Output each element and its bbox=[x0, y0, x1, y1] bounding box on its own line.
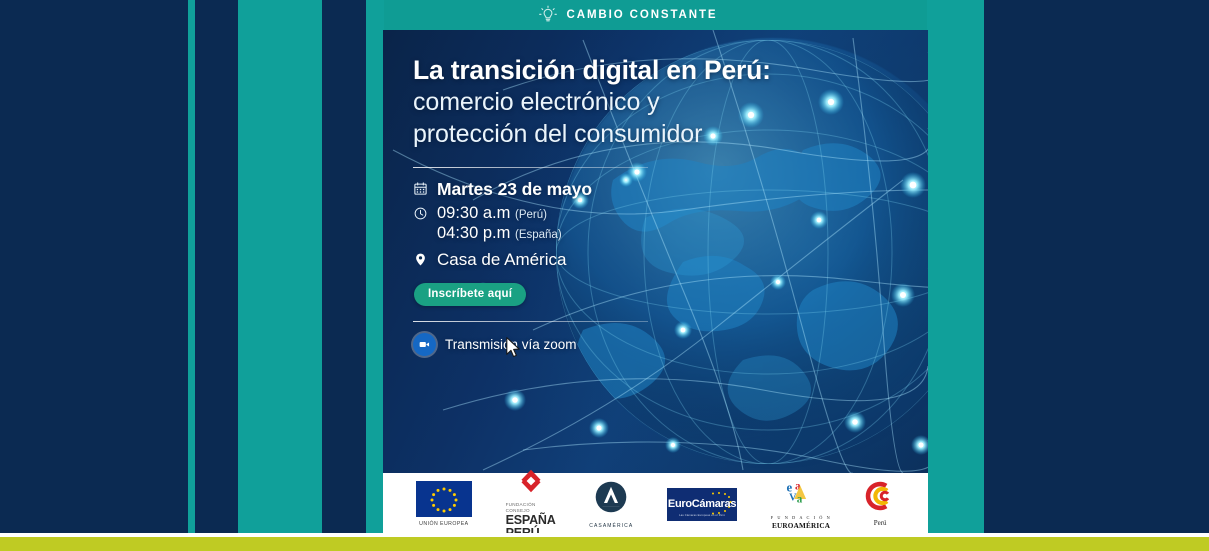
casa-america-mark-icon bbox=[594, 480, 628, 519]
page-title: La transición digital en Perú: bbox=[413, 56, 813, 86]
time-peru: 09:30 a.m (Perú) bbox=[437, 204, 562, 223]
logo-subtitle: Las Cámaras Europeas en el Perú bbox=[667, 514, 737, 517]
logo-caption: CASAMÉRICA bbox=[589, 523, 633, 529]
logo-union-europea: UNIÓN EUROPEA bbox=[416, 481, 472, 527]
logo-fundacion-euroamerica: e a a V F U N D A C I Ó N EUROAMÉRICA bbox=[771, 478, 832, 530]
venue-name: Casa de América bbox=[437, 250, 566, 270]
logo-caption: Perú bbox=[874, 519, 887, 527]
eurocamaras-flag-icon: EuroCámaras Las Cámaras Europeas en el P… bbox=[667, 488, 737, 521]
decor-stripe-2 bbox=[238, 0, 322, 551]
clock-icon bbox=[413, 206, 429, 223]
header-band: CAMBIO CONSTANTE bbox=[384, 0, 927, 30]
decor-stripe-3 bbox=[366, 0, 384, 551]
logo-caption-2: EUROAMÉRICA bbox=[772, 522, 830, 530]
calendar-icon bbox=[413, 181, 429, 198]
register-button[interactable]: Inscríbete aquí bbox=[414, 283, 526, 306]
event-poster: La transición digital en Perú: comercio … bbox=[383, 30, 928, 535]
svg-text:V: V bbox=[789, 493, 797, 504]
divider-bottom bbox=[413, 321, 648, 322]
logo-title: EuroCámaras bbox=[668, 498, 736, 510]
event-date: Martes 23 de mayo bbox=[437, 179, 592, 200]
subtitle-line-1: comercio electrónico y bbox=[413, 86, 813, 118]
time-spain-zone: (España) bbox=[515, 229, 562, 241]
time-row: 09:30 a.m (Perú) 04:30 p.m (España) bbox=[413, 204, 813, 243]
decor-stripe-1 bbox=[188, 0, 195, 551]
sponsor-logo-strip: UNIÓN EUROPEA FUNDACIÓN CONSEJO ESPAÑ bbox=[383, 473, 928, 535]
rhombus-mark-icon bbox=[518, 468, 544, 499]
bottom-accent-bar bbox=[0, 537, 1209, 551]
logo-peru: Perú bbox=[865, 481, 895, 527]
broadcast-row: Transmisión vía zoom bbox=[413, 333, 813, 356]
decor-stripe-4 bbox=[927, 0, 984, 551]
eu-flag-icon bbox=[416, 481, 472, 517]
date-row: Martes 23 de mayo bbox=[413, 179, 813, 200]
time-peru-zone: (Perú) bbox=[515, 209, 547, 221]
logo-eurocamaras: EuroCámaras Las Cámaras Europeas en el P… bbox=[667, 488, 737, 521]
logo-casa-america: CASAMÉRICA bbox=[589, 480, 633, 529]
venue-row: Casa de América bbox=[413, 250, 813, 270]
svg-text:a: a bbox=[797, 493, 803, 505]
brand-title: CAMBIO CONSTANTE bbox=[567, 9, 718, 21]
logo-caption: UNIÓN EUROPEA bbox=[419, 521, 468, 527]
logo-caption-1: F U N D A C I Ó N bbox=[771, 515, 832, 520]
video-camera-icon bbox=[413, 333, 436, 356]
map-pin-icon bbox=[413, 252, 429, 269]
time-spain: 04:30 p.m (España) bbox=[437, 224, 562, 243]
mouse-pointer bbox=[505, 336, 523, 365]
peru-c-mark-icon bbox=[865, 481, 895, 516]
poster-content: La transición digital en Perú: comercio … bbox=[413, 56, 813, 356]
subtitle-line-2: protección del consumidor bbox=[413, 118, 813, 150]
lightbulb-icon bbox=[538, 5, 558, 25]
logo-fundacion-espana-peru: FUNDACIÓN CONSEJO ESPAÑA PERÚ bbox=[506, 468, 556, 535]
screen: CAMBIO CONSTANTE bbox=[0, 0, 1209, 551]
divider-top bbox=[413, 167, 648, 168]
euroamerica-mark-icon: e a a V bbox=[784, 478, 818, 513]
